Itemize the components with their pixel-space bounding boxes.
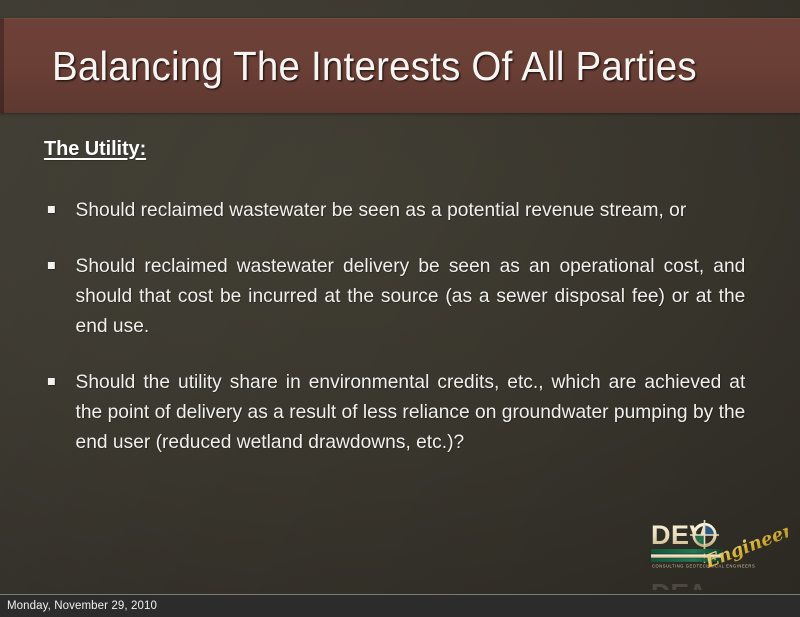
logo-tagline-text: CONSULTING GEOTECHNICAL ENGINEERS (652, 564, 755, 569)
list-item-text: Should the utility share in environmenta… (76, 371, 746, 453)
list-item-text: Should reclaimed wastewater delivery be … (76, 255, 746, 337)
bullet-list: Should reclaimed wastewater be seen as a… (44, 195, 756, 457)
slide-footer-bar: Monday, November 29, 2010 (0, 594, 800, 617)
footer-date: Monday, November 29, 2010 (7, 599, 157, 613)
logo-reflection: DEV (651, 578, 707, 590)
square-bullet-icon (48, 378, 55, 385)
page-title: Balancing The Interests Of All Parties (52, 42, 697, 90)
list-item-text: Should reclaimed wastewater be seen as a… (76, 199, 687, 221)
list-item: Should reclaimed wastewater delivery be … (44, 251, 745, 341)
list-item: Should the utility share in environmenta… (44, 367, 745, 457)
presentation-slide: Balancing The Interests Of All Parties T… (0, 0, 800, 594)
list-item: Should reclaimed wastewater be seen as a… (44, 195, 745, 225)
square-bullet-icon (48, 206, 55, 213)
square-bullet-icon (48, 262, 55, 269)
section-subheading: The Utility: (44, 138, 146, 161)
slide-body: The Utility: Should reclaimed wastewater… (44, 138, 756, 457)
devo-engineering-logo: DEV CONSULTING GEOTECHNICAL ENGINEERS En… (648, 516, 788, 590)
